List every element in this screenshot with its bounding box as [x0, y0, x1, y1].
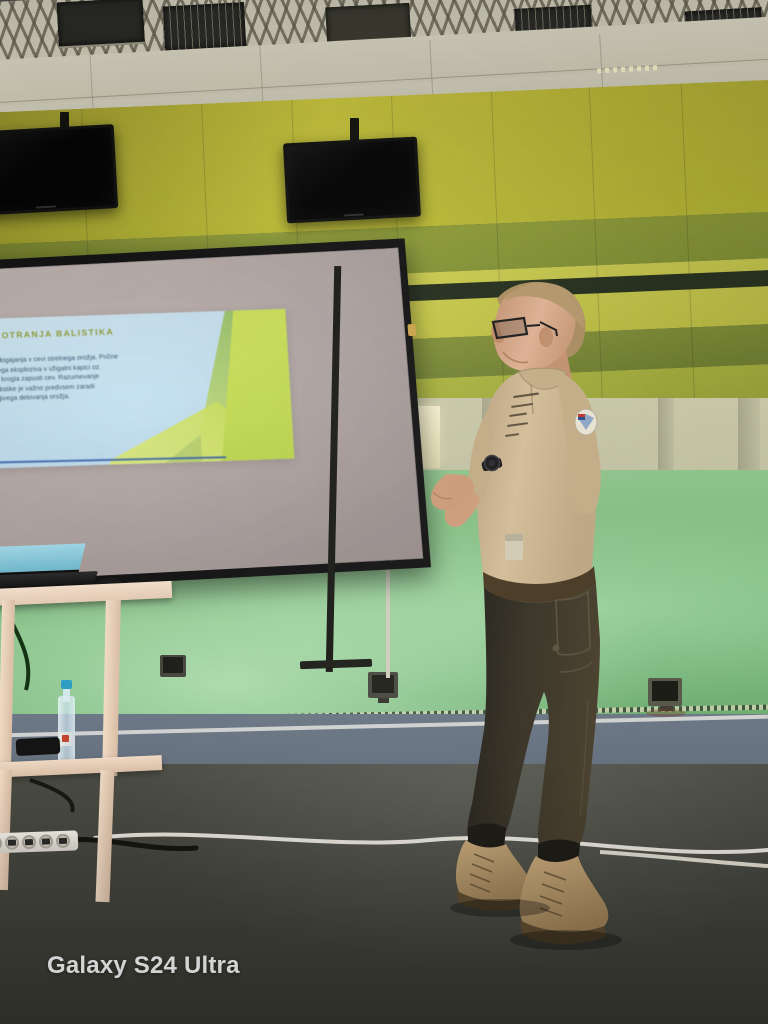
belt-pouch-flap — [505, 534, 523, 541]
ear — [539, 327, 553, 347]
boot-shadow — [450, 899, 550, 917]
boot-shadow — [510, 930, 622, 950]
sleeve-patch — [575, 409, 597, 435]
camera-watermark: Galaxy S24 Ultra — [47, 952, 240, 980]
presenter — [0, 0, 768, 1024]
photograph: NOTRANJA BALISTIKA notranja balistika pr… — [0, 0, 768, 1024]
trousers — [467, 584, 600, 857]
pocket-button — [553, 645, 560, 652]
boot-right — [520, 856, 609, 937]
